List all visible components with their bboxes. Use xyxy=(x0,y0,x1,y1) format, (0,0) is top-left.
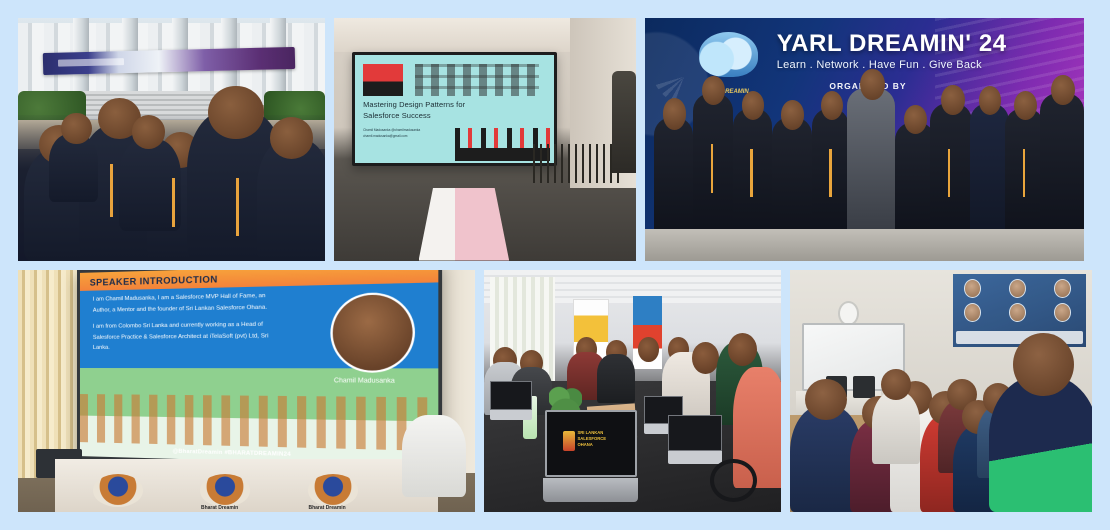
attendee-face xyxy=(270,117,313,158)
speaker-avatar xyxy=(1009,279,1026,298)
slide-title-line-2: Salesforce Success xyxy=(363,111,503,122)
organiser-face xyxy=(742,91,765,120)
lanyard xyxy=(711,144,714,193)
organiser-face xyxy=(781,100,804,129)
photo-londons-calling-session[interactable]: Mastering Design Patterns for Salesforce… xyxy=(334,18,636,261)
londons-calling-logo xyxy=(363,64,403,96)
photo-yarl-dreamin-24-stage[interactable]: Yarl DREAMIN YARL DREAMIN' 24 Learn . Ne… xyxy=(645,18,1084,261)
collage-row-bottom: SPEAKER INTRODUCTION I am Chamil Madusan… xyxy=(18,270,1092,513)
attendee-face xyxy=(805,379,847,420)
participant xyxy=(597,354,636,403)
foreground-laptop: SRI LANKAN SALESFORCE OHANA xyxy=(543,410,638,502)
speaker xyxy=(612,71,636,173)
speaker-avatar xyxy=(964,303,981,322)
attendee-face xyxy=(132,115,166,149)
led-stage-screen: SPEAKER INTRODUCTION I am Chamil Madusan… xyxy=(77,270,442,470)
organiser-face xyxy=(1014,91,1037,120)
event-tagline: Learn . Network . Have Fun . Give Back xyxy=(777,59,1067,71)
speaker-avatar xyxy=(1054,303,1071,322)
lanyard xyxy=(948,149,951,198)
attendee-face xyxy=(881,369,911,401)
attendee xyxy=(872,391,920,464)
lanyard xyxy=(110,164,113,217)
attendee-face-foreground xyxy=(208,86,263,139)
organiser xyxy=(654,117,694,229)
lanyard xyxy=(829,149,832,198)
participant-face xyxy=(638,337,659,361)
organiser xyxy=(970,103,1010,229)
photo-collage: Group selfie of community members in fro… xyxy=(18,18,1092,512)
floor xyxy=(645,229,1084,261)
organiser-face xyxy=(860,69,885,101)
photo-bharat-dreamin-speaker-intro[interactable]: SPEAKER INTRODUCTION I am Chamil Madusan… xyxy=(18,270,475,513)
podium xyxy=(419,188,510,261)
slide-title-line-1: Mastering Design Patterns for xyxy=(363,100,503,111)
lanyard xyxy=(236,178,239,236)
speaker-avatar xyxy=(964,279,981,298)
organiser xyxy=(847,88,895,229)
organiser-face xyxy=(1051,75,1075,105)
slide-heading: SPEAKER INTRODUCTION xyxy=(90,270,427,291)
presentation-screen: Mastering Design Patterns for Salesforce… xyxy=(352,52,557,166)
india-monuments-illustration xyxy=(80,393,438,450)
organized-by-label: ORGANIZED BY xyxy=(829,81,952,91)
laptop-keyboard xyxy=(543,478,638,502)
organiser xyxy=(1040,93,1084,229)
participant-face xyxy=(692,342,719,374)
organiser-face xyxy=(702,76,725,105)
laptop-screen xyxy=(490,381,532,410)
laptop xyxy=(490,381,532,420)
lanyard xyxy=(172,178,175,227)
organiser-face xyxy=(904,105,927,134)
lanyard xyxy=(750,149,753,198)
collage-row-top: Group selfie of community members in fro… xyxy=(18,18,1092,261)
photo-caption: Organising team photo on the Yarl Dreami… xyxy=(645,18,646,19)
organiser xyxy=(930,103,972,229)
speaker-avatar xyxy=(1009,303,1026,322)
organiser-face xyxy=(941,85,965,115)
attendee-face-foreground xyxy=(1013,333,1073,396)
attendee-face xyxy=(61,113,92,145)
desk-monitor xyxy=(853,376,874,398)
speaker-name: Chamil Madusanka xyxy=(308,378,423,385)
event-title: YARL DREAMIN' 24 xyxy=(777,30,1067,58)
stage-skirt-label: Bharat Dreamin xyxy=(300,505,354,511)
bharat-dreamin-emblem xyxy=(200,474,250,507)
slide-body-text: I am Chamil Madusanka, I am a Salesforce… xyxy=(93,290,286,392)
projected-slide xyxy=(953,274,1086,347)
lanyard xyxy=(1023,149,1026,198)
sponsor-logo-row xyxy=(415,64,539,96)
laptop-screen: SRI LANKAN SALESFORCE OHANA xyxy=(545,410,636,476)
slide-paragraph-1: I am Chamil Madusanka, I am a Salesforce… xyxy=(93,290,286,316)
laptop-sticker-text: SRI LANKAN SALESFORCE OHANA xyxy=(577,430,617,448)
chair xyxy=(402,415,466,497)
speaker-photo xyxy=(330,291,415,372)
organiser-face xyxy=(663,98,687,130)
slide-title: Mastering Design Patterns for Salesforce… xyxy=(363,100,503,122)
laptop-screen xyxy=(668,415,721,451)
bharat-dreamin-emblem xyxy=(308,474,358,507)
balcony-railing xyxy=(533,144,624,183)
photo-yarl-dreamin-group-selfie[interactable]: Group selfie of community members in fro… xyxy=(18,18,325,261)
sri-lankan-salesforce-ohana-logo: SRI LANKAN SALESFORCE OHANA xyxy=(563,428,619,457)
organiser-face xyxy=(821,91,843,120)
organiser xyxy=(895,122,935,229)
organiser xyxy=(772,117,812,229)
stage-skirt-label: Bharat Dreamin xyxy=(193,505,247,511)
photo-community-workshop-laptops[interactable]: SRI LANKAN SALESFORCE OHANA Community wo… xyxy=(484,270,781,513)
attendee-foreground xyxy=(989,376,1092,512)
bharat-dreamin-emblem xyxy=(93,474,143,507)
sri-lanka-flag-icon xyxy=(563,431,575,451)
slide-contact-details: Chamil Madusanka @chamilmadusanka chamil… xyxy=(363,128,447,139)
photo-classroom-group-selfie[interactable]: Group selfie of nine community members i… xyxy=(790,270,1092,513)
slide-paragraph-2: I am from Colombo Sri Lanka and currentl… xyxy=(93,319,286,354)
attendee xyxy=(49,134,98,202)
speaker-avatar xyxy=(1054,279,1071,298)
stage-skirt: Bharat Dreamin Bharat Dreamin xyxy=(55,459,439,512)
laptop xyxy=(668,415,721,464)
cloud-skyline-icon xyxy=(699,32,758,77)
collage-frame: Group selfie of community members in fro… xyxy=(0,0,1110,530)
